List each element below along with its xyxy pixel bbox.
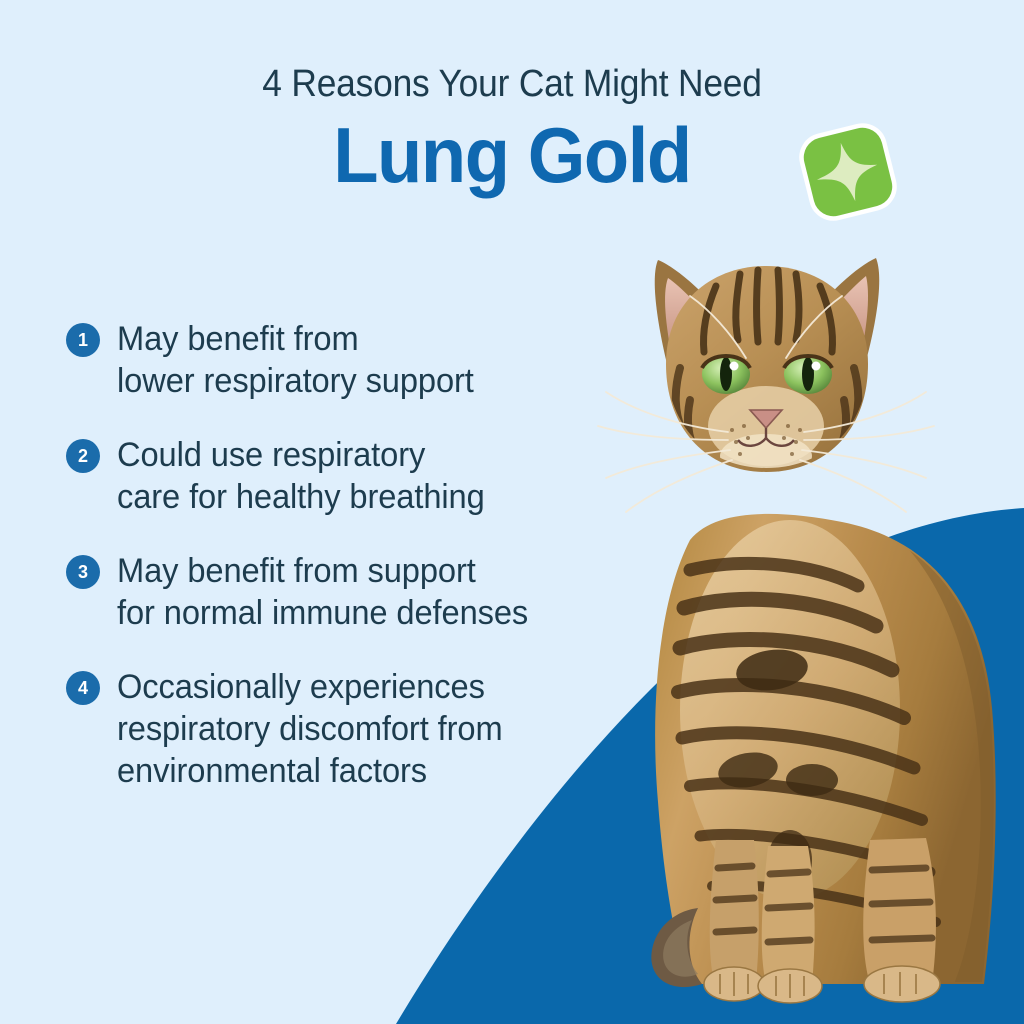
reason-text: May benefit from support for normal immu… — [117, 550, 528, 634]
list-item: 3 May benefit from support for normal im… — [66, 550, 586, 634]
reason-number-badge: 2 — [66, 439, 100, 473]
cat-photo — [540, 240, 1024, 1024]
reason-text: Could use respiratory care for healthy b… — [117, 434, 485, 518]
reason-text: May benefit from lower respiratory suppo… — [117, 318, 474, 402]
cat-head — [598, 258, 934, 512]
reason-text: Occasionally experiences respiratory dis… — [117, 666, 503, 792]
list-item: 1 May benefit from lower respiratory sup… — [66, 318, 586, 402]
list-item: 2 Could use respiratory care for healthy… — [66, 434, 586, 518]
list-item: 4 Occasionally experiences respiratory d… — [66, 666, 586, 792]
cat-eye-left — [702, 354, 750, 394]
reason-number-badge: 4 — [66, 671, 100, 705]
cat-body — [651, 514, 1000, 1003]
lung-gold-sparkle-badge — [798, 122, 898, 222]
eyebrow-headline: 4 Reasons Your Cat Might Need — [36, 0, 988, 106]
cat-eye-right — [784, 354, 832, 394]
reasons-list: 1 May benefit from lower respiratory sup… — [66, 318, 586, 824]
promo-graphic: 4 Reasons Your Cat Might Need Lung Gold … — [0, 0, 1024, 1024]
reason-number-badge: 3 — [66, 555, 100, 589]
reason-number-badge: 1 — [66, 323, 100, 357]
